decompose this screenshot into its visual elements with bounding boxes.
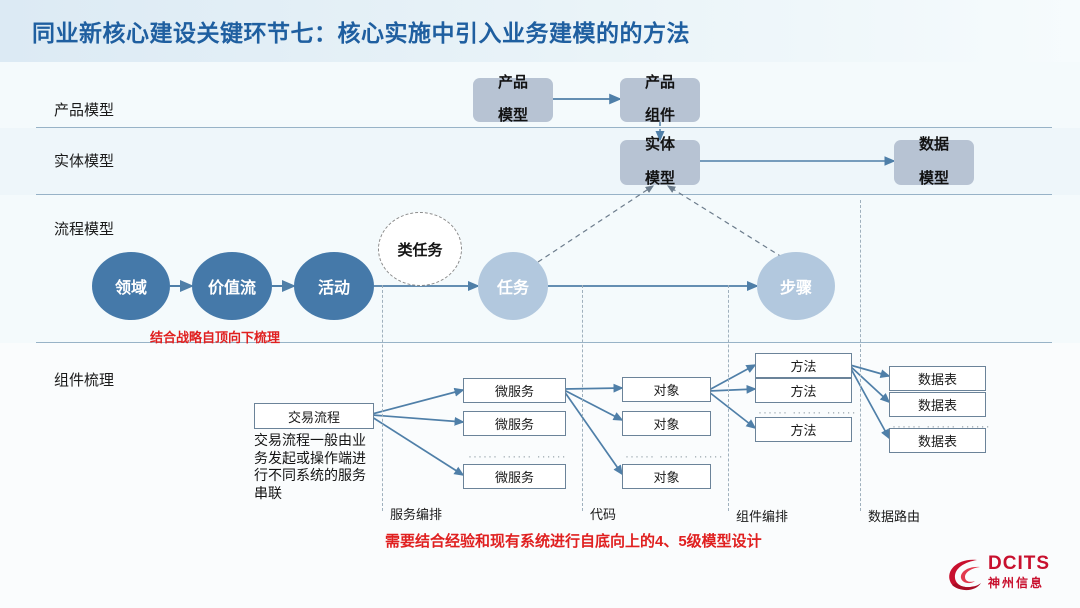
method-box-1[interactable]: 方法 <box>755 353 852 378</box>
entity-model-box[interactable]: 实体 模型 <box>620 140 700 185</box>
data-table-box-3[interactable]: 数据表 <box>889 428 986 453</box>
column-label-code: 代码 <box>590 504 616 523</box>
data-table-box-1[interactable]: 数据表 <box>889 366 986 391</box>
row-label-entity-model: 实体模型 <box>54 150 114 171</box>
data-table-box-2[interactable]: 数据表 <box>889 392 986 417</box>
class-task-circle[interactable]: 类任务 <box>378 212 462 286</box>
microservice-box-2[interactable]: 微服务 <box>463 411 566 436</box>
row-label-process-model: 流程模型 <box>54 218 114 239</box>
header-bar: 同业新核心建设关键环节七：核心实施中引入业务建模的的方法 <box>0 0 1080 62</box>
object-box-3[interactable]: 对象 <box>622 464 711 489</box>
column-divider-2 <box>582 285 583 511</box>
product-component-line2: 组件 <box>645 108 675 125</box>
value-stream-circle[interactable]: 价值流 <box>192 252 272 320</box>
row-label-component-sort: 组件梳理 <box>54 369 114 390</box>
entity-model-line1: 实体 <box>645 137 675 154</box>
column-label-service-orchestration: 服务编排 <box>390 504 442 523</box>
divider-1 <box>36 127 1052 128</box>
transaction-flow-description: 交易流程一般由业务发起或操作端进行不同系统的服务串联 <box>254 432 374 502</box>
note-bottom-up: 需要结合经验和现有系统进行自底向上的4、5级模型设计 <box>385 530 762 551</box>
column-label-component-orchestration: 组件编排 <box>736 506 788 525</box>
note-top-down: 结合战略自顶向下梳理 <box>150 327 280 346</box>
column-label-data-routing: 数据路由 <box>868 506 920 525</box>
row-label-product-model: 产品模型 <box>54 99 114 120</box>
data-model-box[interactable]: 数据 模型 <box>894 140 974 185</box>
dcits-swirl-icon <box>944 552 988 596</box>
activity-circle[interactable]: 活动 <box>294 252 374 320</box>
dcits-brand-cn: 神州信息 <box>988 577 1050 589</box>
microservice-box-3[interactable]: 微服务 <box>463 464 566 489</box>
data-model-line1: 数据 <box>919 137 949 154</box>
slide-root: 同业新核心建设关键环节七：核心实施中引入业务建模的的方法 产品模型 实体模型 流… <box>0 0 1080 608</box>
product-model-line2: 模型 <box>498 108 528 125</box>
data-model-line2: 模型 <box>919 171 949 188</box>
object-ellipsis: ······ ······ ······ <box>625 449 724 463</box>
product-component-line1: 产品 <box>645 75 675 92</box>
product-component-box[interactable]: 产品 组件 <box>620 78 700 122</box>
step-circle[interactable]: 步骤 <box>757 252 835 320</box>
transaction-flow-box[interactable]: 交易流程 <box>254 403 374 429</box>
column-divider-3 <box>728 285 729 511</box>
microservice-ellipsis: ······ ······ ······ <box>468 449 567 463</box>
task-circle[interactable]: 任务 <box>478 252 548 320</box>
dcits-brand: DCITS <box>988 554 1050 573</box>
product-model-box[interactable]: 产品 模型 <box>473 78 553 122</box>
product-model-line1: 产品 <box>498 75 528 92</box>
column-divider-4 <box>860 200 861 511</box>
column-divider-1 <box>382 285 383 511</box>
object-box-2[interactable]: 对象 <box>622 411 711 436</box>
divider-2 <box>36 194 1052 195</box>
object-box-1[interactable]: 对象 <box>622 377 711 402</box>
page-title: 同业新核心建设关键环节七：核心实施中引入业务建模的的方法 <box>32 14 690 48</box>
dcits-logo: DCITS 神州信息 <box>944 552 1064 598</box>
microservice-box-1[interactable]: 微服务 <box>463 378 566 403</box>
dcits-wordmark: DCITS 神州信息 <box>988 554 1050 589</box>
method-box-3[interactable]: 方法 <box>755 417 852 442</box>
domain-circle[interactable]: 领域 <box>92 252 170 320</box>
method-box-2[interactable]: 方法 <box>755 378 852 403</box>
entity-model-line2: 模型 <box>645 171 675 188</box>
